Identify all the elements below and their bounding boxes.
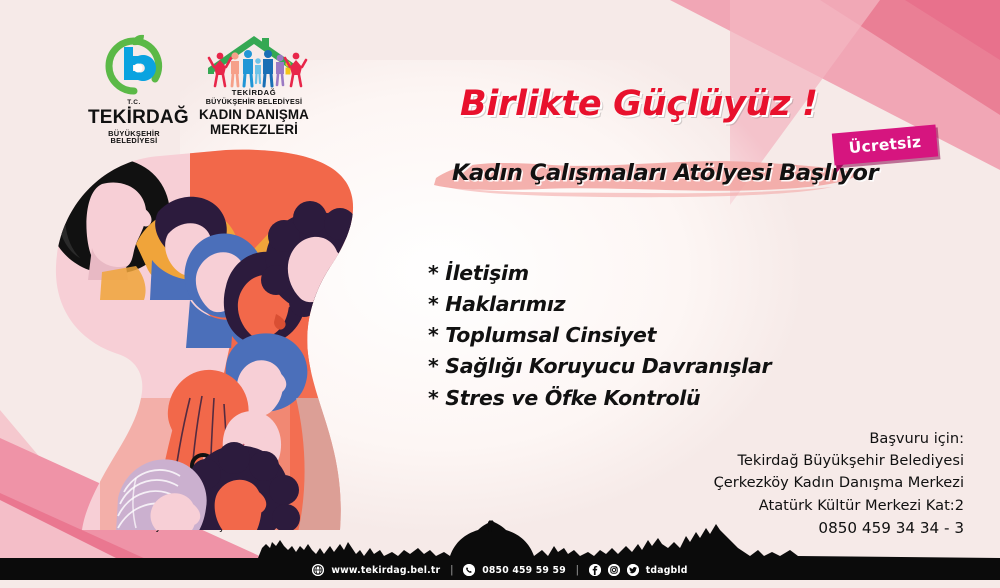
- contact-line-municipality: Tekirdağ Büyükşehir Belediyesi: [714, 450, 964, 472]
- logo-row: T.C. TEKİRDAĞ BÜYÜKŞEHİR BELEDİYESİ: [88, 34, 310, 144]
- house-family-logo-icon: [200, 34, 308, 88]
- womens-center-logo: TEKİRDAĞ BÜYÜKŞEHİR BELEDİYESİ KADIN DAN…: [198, 34, 310, 137]
- womens-center-line3: KADIN DANIŞMA: [198, 107, 310, 122]
- tekirdag-logo-name: TEKİRDAĞ: [88, 108, 180, 127]
- bg-triangle-top-right-dark: [905, 0, 1000, 60]
- topic-item: * Stres ve Öfke Kontrolü: [428, 383, 771, 414]
- globe-icon: [312, 564, 324, 576]
- topic-item: * Toplumsal Cinsiyet: [428, 320, 771, 351]
- footer-bar: www.tekirdag.bel.tr | 0850 459 59 59 |: [0, 560, 1000, 580]
- footer-separator-1: |: [450, 564, 453, 576]
- footer-bottom-strip: [0, 580, 1000, 588]
- headline-main: Birlikte Güçlüyüz !: [460, 84, 980, 124]
- footer-social-handle[interactable]: tdagbld: [646, 565, 688, 576]
- instagram-icon[interactable]: [608, 564, 620, 576]
- footer-phone[interactable]: 0850 459 59 59: [482, 565, 566, 576]
- headline-subtitle-wrap: Kadın Çalışmaları Atölyesi Başlıyor: [432, 146, 902, 208]
- tekirdag-municipality-logo: T.C. TEKİRDAĞ BÜYÜKŞEHİR BELEDİYESİ: [88, 34, 180, 144]
- footer-website[interactable]: www.tekirdag.bel.tr: [331, 565, 440, 576]
- headline-subtitle: Kadın Çalışmaları Atölyesi Başlıyor: [452, 160, 878, 186]
- city-skyline-silhouette: [0, 520, 1000, 562]
- contact-line-apply: Başvuru için:: [714, 428, 964, 450]
- topic-item: * Sağlığı Koruyucu Davranışlar: [428, 351, 771, 382]
- contact-line-address: Atatürk Kültür Merkezi Kat:2: [714, 495, 964, 517]
- twitter-icon[interactable]: [627, 564, 639, 576]
- headline-main-wrap: Birlikte Güçlüyüz !: [460, 84, 980, 124]
- tekirdag-logo-tc: T.C.: [88, 100, 180, 107]
- footer-separator-2: |: [576, 564, 579, 576]
- topics-list: * İletişim * Haklarımız * Toplumsal Cins…: [428, 258, 771, 414]
- topic-item: * İletişim: [428, 258, 771, 289]
- phone-icon: [463, 564, 475, 576]
- tekirdag-logo-subtitle: BÜYÜKŞEHİR BELEDİYESİ: [88, 130, 180, 145]
- facebook-icon[interactable]: [589, 564, 601, 576]
- tekirdag-leaf-b-logo-icon: [102, 34, 166, 96]
- womens-center-line4: MERKEZLERİ: [198, 122, 310, 137]
- contact-line-center: Çerkezköy Kadın Danışma Merkezi: [714, 472, 964, 494]
- womens-center-line2: BÜYÜKŞEHİR BELEDİYESİ: [198, 98, 310, 106]
- woman-head-silhouette-with-female-profiles-illustration: [40, 148, 402, 532]
- poster-canvas: T.C. TEKİRDAĞ BÜYÜKŞEHİR BELEDİYESİ: [0, 0, 1000, 588]
- topic-item: * Haklarımız: [428, 289, 771, 320]
